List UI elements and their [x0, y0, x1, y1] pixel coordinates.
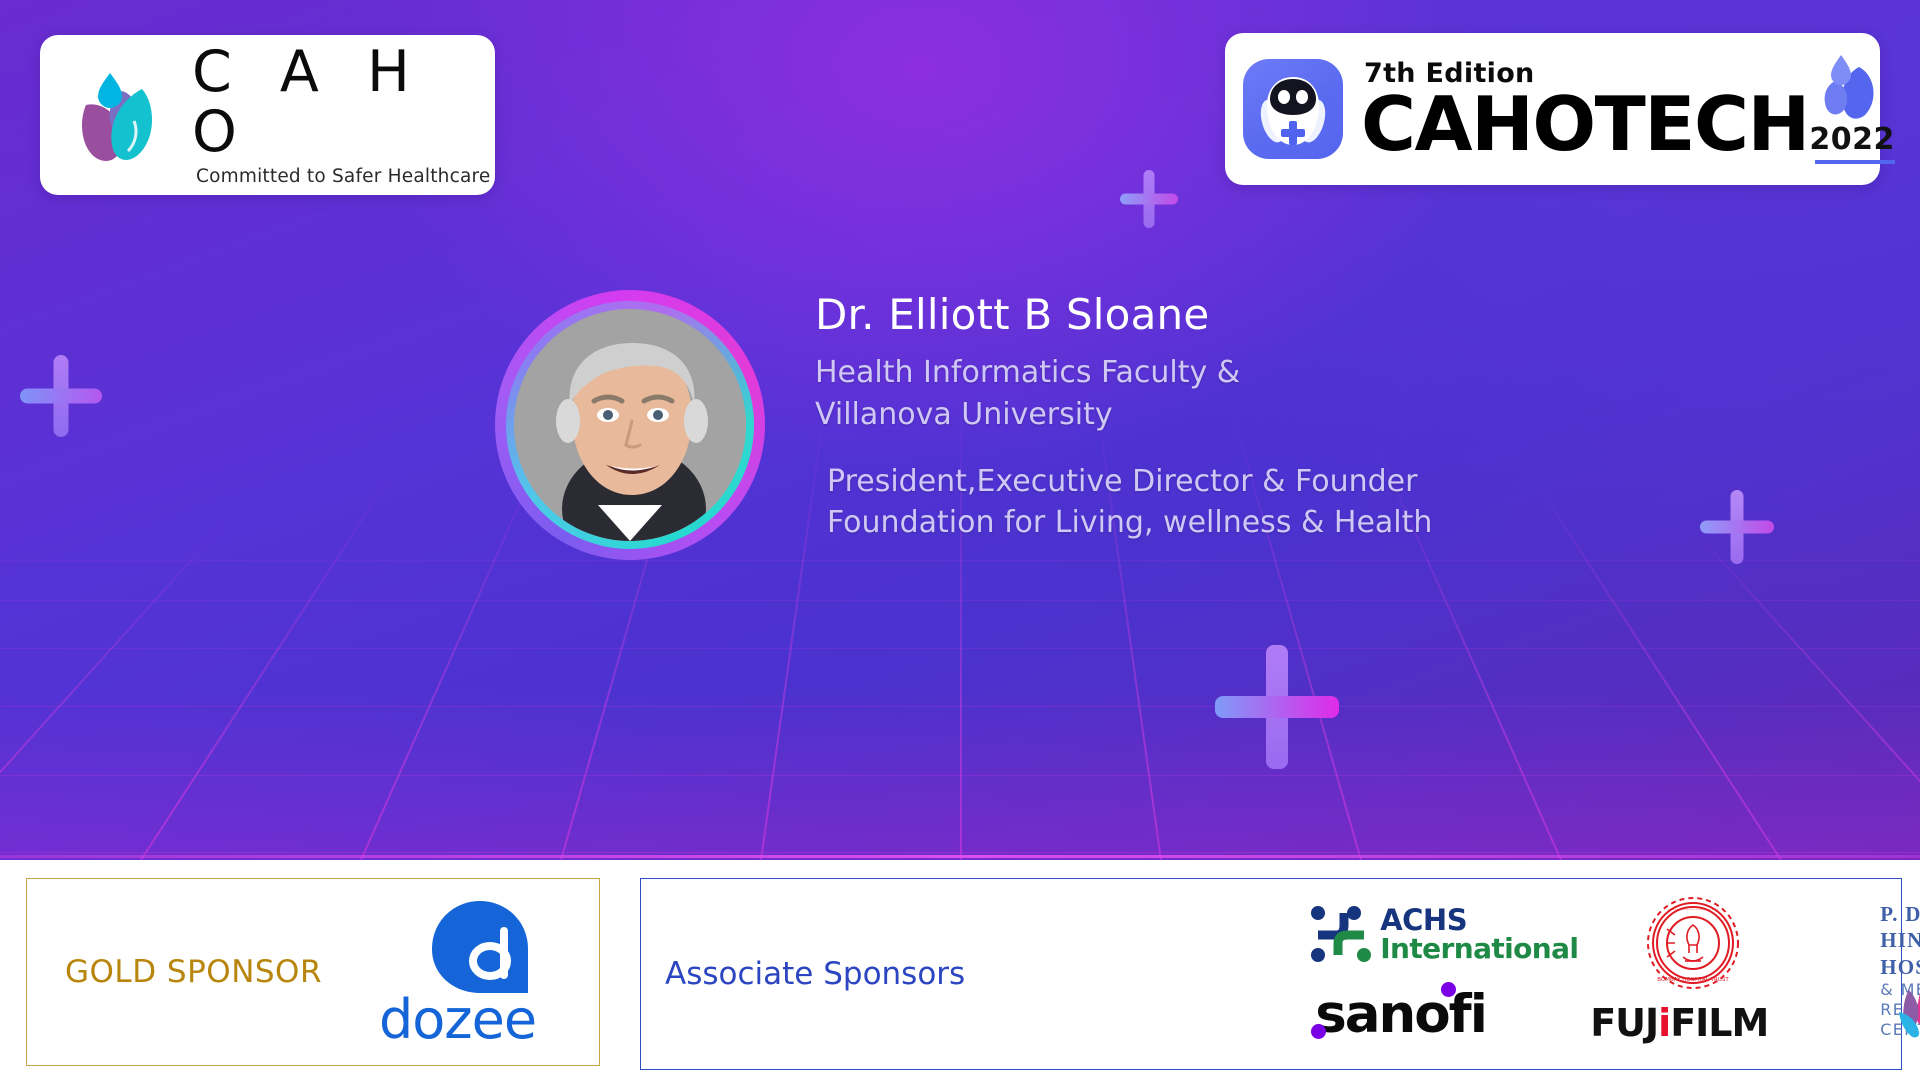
gold-sponsor-label: GOLD SPONSOR — [65, 954, 322, 990]
caho-leaf-droplet-icon — [64, 61, 176, 169]
caho-logo-card: C A H O Committed to Safer Healthcare — [40, 35, 495, 195]
associate-sponsor-logos: ACHS International sanofi — [965, 879, 1901, 1069]
sponsor-footer: GOLD SPONSOR dozee Associate Sponsors — [0, 860, 1920, 1080]
sanofi-wordmark: sanofi — [1315, 984, 1486, 1045]
dozee-wordmark: dozee — [370, 993, 545, 1047]
cahotech-logo-text: 7th Edition CAHOTECH — [1361, 58, 1809, 160]
horizon-line — [0, 855, 1920, 858]
fujifilm-part-1: FUJ — [1590, 1001, 1658, 1045]
travancore-hospital-logo: Travancore Medical College Hospital — [1895, 971, 1920, 1071]
speaker-affiliation-line-1: Health Informatics Faculty & — [815, 352, 1575, 393]
achs-international-logo: ACHS International — [1310, 903, 1575, 965]
caho-tagline: Committed to Safer Healthcare — [196, 166, 495, 187]
grid-line-vertical — [1682, 517, 1920, 860]
svg-text:BOMBAY HOSPITAL TRUST: BOMBAY HOSPITAL TRUST — [1657, 977, 1729, 983]
sanofi-logo: sanofi — [1315, 984, 1486, 1045]
speaker-role-line-1: President,Executive Director & Founder — [827, 461, 1575, 502]
speaker-role: President,Executive Director & Founder F… — [827, 461, 1575, 544]
grid-line-vertical — [140, 474, 392, 860]
cahotech-year-block: 2022 — [1809, 53, 1895, 165]
speaker-affiliation: Health Informatics Faculty & Villanova U… — [815, 352, 1575, 435]
robot-avatar-icon — [1243, 59, 1343, 159]
fujifilm-wordmark: FUJiFILM — [1590, 1001, 1768, 1045]
achs-name-bottom: International — [1380, 935, 1578, 963]
blue-leaf-droplet-icon — [1807, 53, 1893, 123]
cahotech-logo-card: 7th Edition CAHOTECH 2022 — [1225, 33, 1880, 185]
slide-canvas: C A H O Committed to Safer Healthcare — [0, 0, 1920, 1080]
cahotech-year: 2022 — [1809, 122, 1895, 157]
fujifilm-part-2: FILM — [1670, 1001, 1768, 1045]
caho-wordmark: C A H O — [192, 43, 495, 163]
associate-sponsors-box: Associate Sponsors ACH — [640, 878, 1902, 1070]
dozee-droplet-icon — [382, 897, 557, 997]
hinduja-name-top: P. D. HINDUJA HOSPITAL — [1880, 901, 1920, 980]
travancore-flame-icon — [1895, 974, 1920, 1040]
hero-background: C A H O Committed to Safer Healthcare — [0, 0, 1920, 860]
red-hospital-seal-icon: ····························· BOMBAY HOS… — [1645, 895, 1741, 991]
cahotech-wordmark: CAHOTECH — [1361, 89, 1809, 160]
svg-text:·····························: ····························· — [1668, 907, 1719, 913]
speaker-affiliation-line-2: Villanova University — [815, 394, 1575, 435]
plus-decor-icon — [1215, 645, 1339, 769]
grid-line-vertical — [0, 517, 230, 860]
dozee-logo: dozee — [370, 897, 545, 1047]
achs-dots-icon — [1310, 905, 1372, 963]
achs-wordmark: ACHS International — [1380, 906, 1578, 963]
speaker-portrait-photo — [514, 309, 746, 541]
fujifilm-logo: FUJiFILM — [1590, 1001, 1768, 1045]
associate-sponsors-label: Associate Sponsors — [665, 956, 965, 992]
achs-name-top: ACHS — [1380, 906, 1578, 935]
plus-decor-icon — [1700, 490, 1774, 564]
caho-logo-text: C A H O Committed to Safer Healthcare — [192, 43, 495, 188]
plus-decor-icon — [20, 355, 102, 437]
fujifilm-accent-i: i — [1658, 1001, 1670, 1045]
gold-sponsor-box: GOLD SPONSOR dozee — [26, 878, 600, 1066]
speaker-details: Dr. Elliott B Sloane Health Informatics … — [815, 292, 1575, 544]
cahotech-year-underline — [1815, 160, 1895, 164]
speaker-role-line-2: Foundation for Living, wellness & Health — [827, 502, 1575, 543]
speaker-avatar — [495, 290, 765, 560]
speaker-name: Dr. Elliott B Sloane — [815, 292, 1575, 338]
plus-decor-icon — [1120, 170, 1178, 228]
